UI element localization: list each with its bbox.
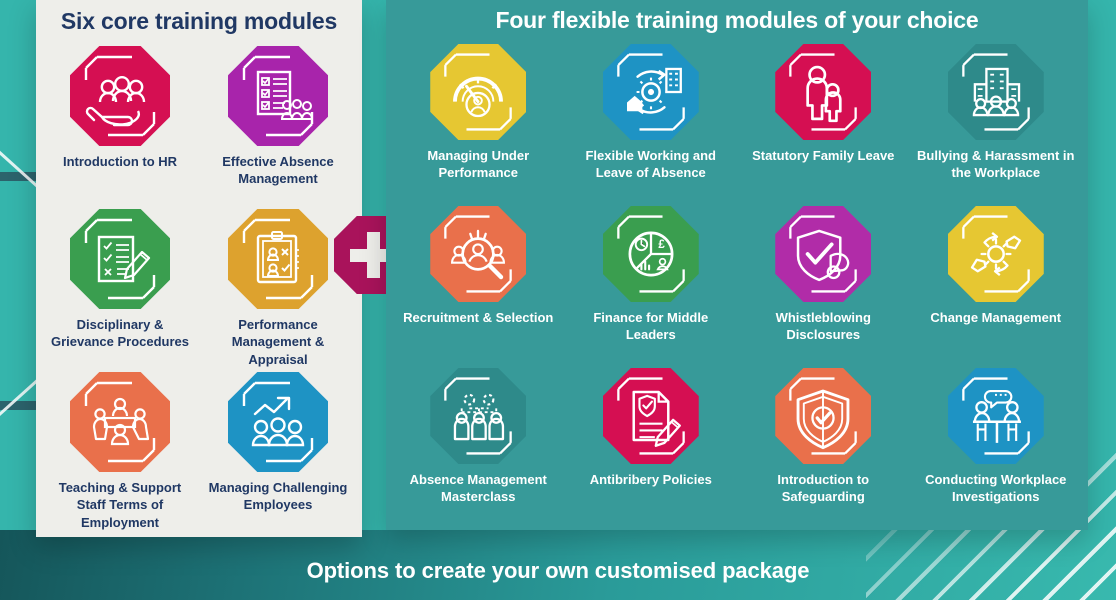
- whistleblowing-disclosures-icon-badge[interactable]: [775, 206, 871, 302]
- shield-tick-icon: [775, 368, 871, 464]
- flexible-module-label: Flexible Working and Leave of Absence: [567, 147, 735, 182]
- flexible-module-card[interactable]: Managing Under Performance: [394, 44, 563, 206]
- people-growth-arrow-icon: [228, 372, 328, 472]
- disciplinary-grievance-icon-badge[interactable]: [70, 209, 170, 309]
- antibribery-policies-icon-badge[interactable]: [603, 368, 699, 464]
- plus-icon-vertical: [367, 232, 380, 278]
- flexible-module-card[interactable]: Flexible Working and Leave of Absence: [567, 44, 736, 206]
- flexible-module-label: Introduction to Safeguarding: [739, 471, 907, 506]
- shield-check-whistle-icon: [775, 206, 871, 302]
- recruitment-selection-icon-badge[interactable]: [430, 206, 526, 302]
- gauge-person-icon: [430, 44, 526, 140]
- flexible-modules-grid: Managing Under Performance: [394, 44, 1080, 530]
- core-module-label: Effective Absence Management: [203, 153, 353, 188]
- core-module-label: Managing Challenging Employees: [203, 479, 353, 514]
- core-module-card[interactable]: Performance Management & Appraisal: [202, 209, 354, 372]
- clipboard-people-rating-icon: [228, 209, 328, 309]
- core-module-card[interactable]: Managing Challenging Employees: [202, 372, 354, 535]
- flexible-module-label: Conducting Workplace Investigations: [912, 471, 1080, 506]
- teaching-support-staff-icon-badge[interactable]: [70, 372, 170, 472]
- flexible-module-card[interactable]: Change Management: [912, 206, 1081, 368]
- core-modules-panel: Six core training modules: [36, 0, 362, 537]
- flexible-modules-panel: Four flexible training modules of your c…: [386, 0, 1088, 530]
- flexible-module-card[interactable]: Antibribery Policies: [567, 368, 736, 530]
- change-management-icon-badge[interactable]: [948, 206, 1044, 302]
- core-module-label: Teaching & Support Staff Terms of Employ…: [45, 479, 195, 531]
- flexible-module-label: Recruitment & Selection: [403, 309, 553, 326]
- core-module-card[interactable]: Disciplinary & Grievance Procedures: [44, 209, 196, 372]
- hand-holding-people-icon: [70, 46, 170, 146]
- introduction-safeguarding-icon-badge[interactable]: [775, 368, 871, 464]
- flexible-module-label: Finance for Middle Leaders: [567, 309, 735, 344]
- team-absence-chart-icon: [430, 368, 526, 464]
- core-module-label: Performance Management & Appraisal: [203, 316, 353, 368]
- flexible-module-card[interactable]: £ Finance for Middle Leaders: [567, 206, 736, 368]
- finance-middle-leaders-icon-badge[interactable]: £: [603, 206, 699, 302]
- checklist-with-people-icon: [228, 46, 328, 146]
- flexible-module-label: Statutory Family Leave: [752, 147, 894, 164]
- introduction-to-hr-icon-badge[interactable]: [70, 46, 170, 146]
- flexible-module-label: Change Management: [930, 309, 1061, 326]
- core-module-card[interactable]: Introduction to HR: [44, 46, 196, 209]
- svg-text:£: £: [658, 239, 665, 251]
- absence-management-masterclass-icon-badge[interactable]: [430, 368, 526, 464]
- magnifier-candidate-icon: [430, 206, 526, 302]
- core-module-card[interactable]: Effective Absence Management: [202, 46, 354, 209]
- core-module-card[interactable]: Teaching & Support Staff Terms of Employ…: [44, 372, 196, 535]
- flexible-module-label: Absence Management Masterclass: [394, 471, 562, 506]
- effective-absence-management-icon-badge[interactable]: [228, 46, 328, 146]
- infographic-canvas: Six core training modules: [0, 0, 1116, 600]
- flexible-module-card[interactable]: Absence Management Masterclass: [394, 368, 563, 530]
- conducting-workplace-investigations-icon-badge[interactable]: [948, 368, 1044, 464]
- flexible-module-label: Antibribery Policies: [590, 471, 712, 488]
- flexible-module-card[interactable]: Recruitment & Selection: [394, 206, 563, 368]
- interview-table-speech-icon: [948, 368, 1044, 464]
- flexible-working-icon-badge[interactable]: [603, 44, 699, 140]
- core-module-label: Introduction to HR: [63, 153, 177, 170]
- managing-challenging-employees-icon-badge[interactable]: [228, 372, 328, 472]
- statutory-family-leave-icon-badge[interactable]: [775, 44, 871, 140]
- pie-chart-finance-icon: £: [603, 206, 699, 302]
- flexible-module-card[interactable]: Whistleblowing Disclosures: [739, 206, 908, 368]
- managing-under-performance-icon-badge[interactable]: [430, 44, 526, 140]
- flexible-module-card[interactable]: Introduction to Safeguarding: [739, 368, 908, 530]
- core-module-label: Disciplinary & Grievance Procedures: [45, 316, 195, 351]
- hands-gear-cycle-icon: [948, 206, 1044, 302]
- footer-caption: Options to create your own customised pa…: [0, 558, 1116, 584]
- building-people-group-icon: [948, 44, 1044, 140]
- flexible-module-label: Managing Under Performance: [394, 147, 562, 182]
- document-shield-pencil-icon: [603, 368, 699, 464]
- flexible-module-card[interactable]: Bullying & Harassment in the Workplace: [912, 44, 1081, 206]
- home-office-cycle-icon: [603, 44, 699, 140]
- flexible-module-card[interactable]: Conducting Workplace Investigations: [912, 368, 1081, 530]
- document-pencil-checklist-icon: [70, 209, 170, 309]
- flexible-module-card[interactable]: Statutory Family Leave: [739, 44, 908, 206]
- flexible-module-label: Bullying & Harassment in the Workplace: [912, 147, 1080, 182]
- parent-child-icon: [775, 44, 871, 140]
- flexible-panel-title: Four flexible training modules of your c…: [386, 7, 1088, 34]
- meeting-table-people-icon: [70, 372, 170, 472]
- flexible-module-label: Whistleblowing Disclosures: [739, 309, 907, 344]
- performance-management-icon-badge[interactable]: [228, 209, 328, 309]
- core-modules-grid: Introduction to HR: [44, 46, 354, 535]
- bullying-harassment-icon-badge[interactable]: [948, 44, 1044, 140]
- core-panel-title: Six core training modules: [36, 8, 362, 35]
